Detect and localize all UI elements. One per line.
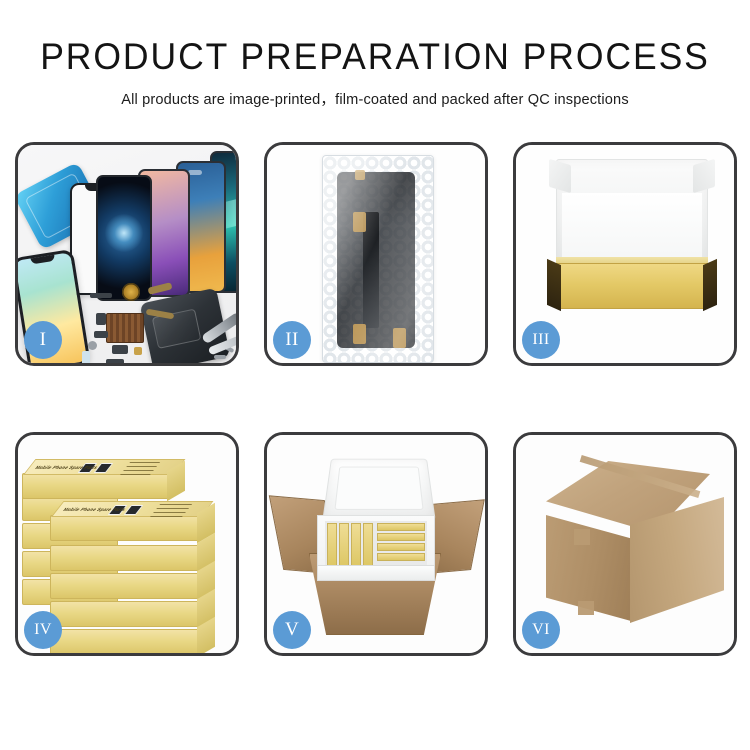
inner-box-horizontal [377, 533, 425, 541]
carton-tape-patch-1 [574, 529, 590, 545]
chip-component-4 [112, 345, 128, 354]
chip-component-3 [94, 331, 108, 338]
box-stack-item [50, 629, 200, 653]
foam-inner-panel [562, 193, 702, 263]
styrofoam-lid [322, 459, 435, 521]
chip-component-1 [90, 293, 112, 298]
bag-gloss-highlight [323, 156, 433, 362]
box-lid-face: Mobile Phone Spare Parts [51, 501, 214, 517]
inner-box-vertical [363, 523, 373, 567]
phone-dark-blue-wallpaper [96, 175, 152, 301]
inner-box-vertical [339, 523, 349, 567]
box-spec-lines [120, 461, 161, 475]
gold-contact-component [134, 347, 142, 355]
process-step-1[interactable]: I Assorted mobile phone screens, glass p… [15, 142, 239, 366]
bubble-wrap-bag [322, 155, 434, 363]
inner-box-horizontal [377, 553, 425, 561]
process-step-4[interactable]: Mobile Phone Spare Parts Mobile Phone Sp… [15, 432, 239, 656]
process-step-5[interactable]: V Open outer carton with styrofoam liner… [264, 432, 488, 656]
box-stack-item [50, 545, 200, 571]
step-badge-4: IV [24, 611, 62, 649]
inner-box-vertical [351, 523, 361, 567]
step-badge-5: V [273, 611, 311, 649]
box-lid-face: Mobile Phone Spare Parts [23, 459, 186, 475]
box-stack-item [50, 573, 200, 599]
step-badge-6: VI [522, 611, 560, 649]
inner-box-horizontal [377, 523, 425, 531]
process-step-2[interactable]: II Single LCD screen assembly sealed in … [264, 142, 488, 366]
box-stack-item-labelled: Mobile Phone Spare Parts [50, 515, 200, 541]
camera-module-component [88, 341, 97, 350]
process-step-grid: I Assorted mobile phone screens, glass p… [15, 142, 737, 656]
inner-box-group [325, 521, 427, 569]
process-step-3[interactable]: III Open kraft inner box with white foam… [513, 142, 737, 366]
page-title: PRODUCT PREPARATION PROCESS [15, 38, 735, 77]
box-spec-lines [150, 503, 193, 517]
battery-sticker-component [82, 351, 90, 363]
chip-component-5 [106, 359, 124, 363]
screw-component-1 [214, 355, 226, 359]
page-header: PRODUCT PREPARATION PROCESS All products… [0, 0, 750, 109]
box-label-text: Mobile Phone Spare Parts [62, 507, 127, 512]
step-badge-3: III [522, 321, 560, 359]
logic-board-component [106, 313, 144, 343]
step-badge-1: I [24, 321, 62, 359]
box-label-text: Mobile Phone Spare Parts [34, 465, 99, 470]
step-badge-2: II [273, 321, 311, 359]
carton-tape-patch-2 [578, 601, 594, 615]
chip-component-2 [96, 313, 106, 325]
box-stack-item [50, 601, 200, 627]
kraft-box-front [556, 263, 708, 309]
styrofoam-front-edge [317, 565, 435, 581]
speaker-coil-component [122, 283, 140, 301]
inner-box-vertical [327, 523, 337, 567]
box-stack-item-labelled: Mobile Phone Spare Parts [22, 473, 170, 499]
inner-box-horizontal [377, 543, 425, 551]
process-step-6[interactable]: VI Sealed brown corrugated shipping cart… [513, 432, 737, 656]
page-subtitle: All products are image-printed，film-coat… [0, 88, 750, 109]
